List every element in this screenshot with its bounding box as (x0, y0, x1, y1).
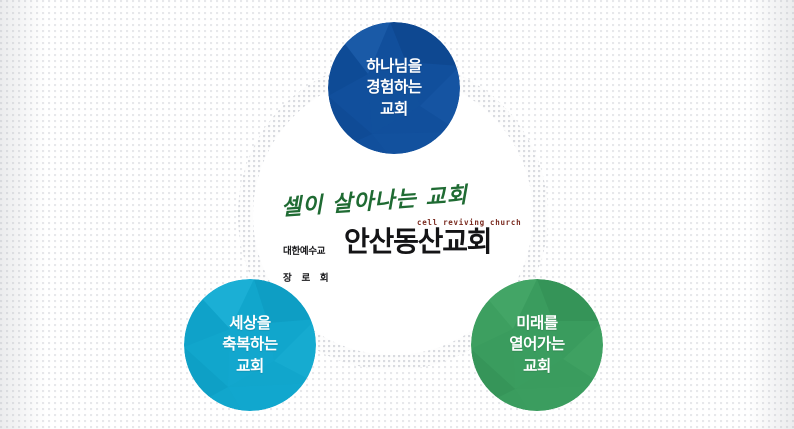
vision-bubble-experience-god[interactable]: 하나님을 경험하는 교회 (328, 22, 460, 154)
vision-bubble-label: 세상을 축복하는 교회 (222, 313, 277, 377)
logo-denomination-line1: 대한예수교 (283, 246, 325, 257)
left-edge-vignette (0, 0, 46, 429)
logo-denomination-line2: 장 로 회 (283, 273, 332, 284)
vision-bubble-bless-world[interactable]: 세상을 축복하는 교회 (184, 279, 316, 411)
logo-denomination: 대한예수교 장 로 회 (283, 232, 341, 286)
church-logo[interactable]: 셀이 살아나는 교회 cell reviving church 대한예수교 장 … (276, 190, 506, 268)
vision-bubble-label: 하나님을 경험하는 교회 (366, 56, 421, 120)
vision-bubble-open-future[interactable]: 미래를 열어가는 교회 (471, 279, 603, 411)
vision-bubble-label: 미래를 열어가는 교회 (509, 313, 564, 377)
right-edge-vignette (748, 0, 794, 429)
vision-diagram-canvas: 하나님을 경험하는 교회 세상을 축복하는 교회 (0, 0, 794, 429)
logo-church-name: 안산동산교회 (344, 228, 491, 256)
